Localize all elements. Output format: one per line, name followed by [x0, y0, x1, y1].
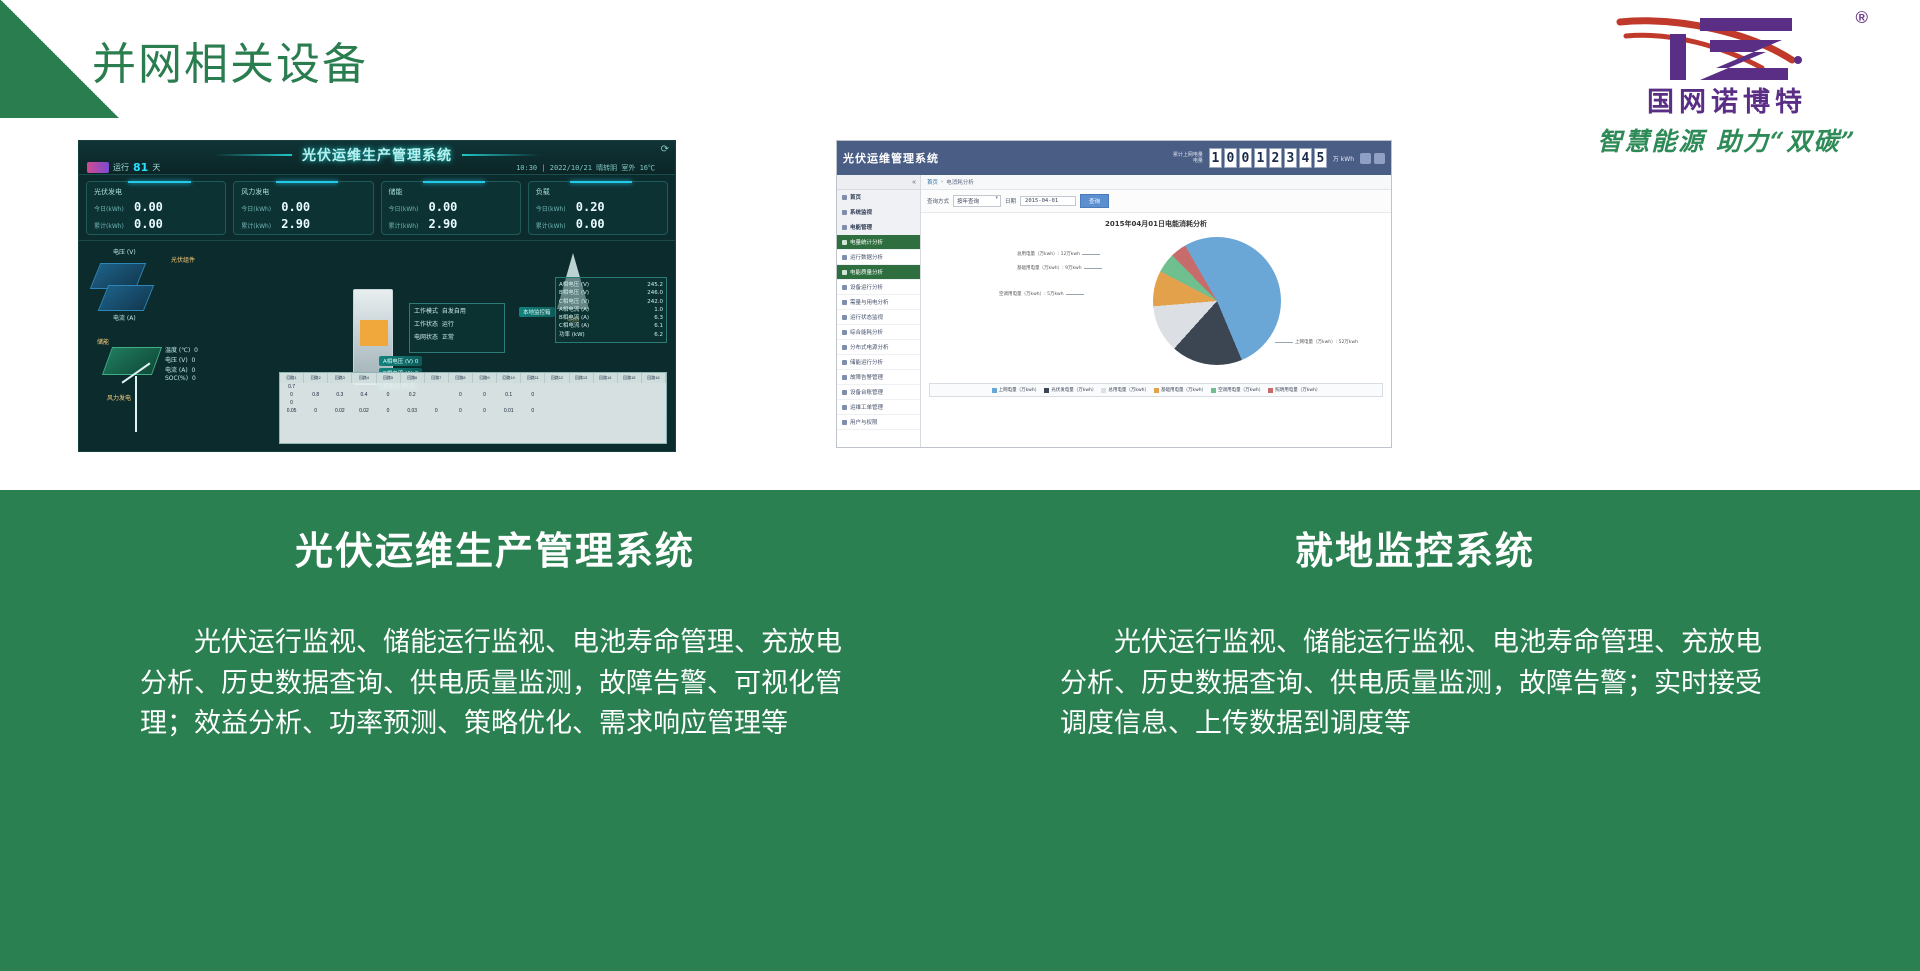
- table-cell: [497, 383, 521, 391]
- pie-annotation: 总用电量（万kwh）: 12万kwh: [1017, 251, 1080, 257]
- registered-trademark-icon: ®: [1855, 8, 1868, 28]
- table-header-cell: 回路12: [545, 373, 569, 383]
- breadcrumb: 首页 › 电消耗分析: [921, 175, 1391, 190]
- table-cell: [497, 399, 521, 407]
- chart-panel: 2015年04月01日电能消耗分析 总用电量（万kwh）: 12万kwh 基础用…: [921, 213, 1391, 425]
- sidebar-item-alarm[interactable]: 故障告警管理: [837, 370, 920, 385]
- table-cell: 0: [280, 391, 304, 399]
- stat-key: 今日(kWh): [241, 204, 275, 213]
- sidebar-item-energy-mgmt[interactable]: 电能管理: [837, 220, 920, 235]
- stat-value: 0.00: [134, 200, 163, 214]
- sidebar-item-users[interactable]: 用户与权限: [837, 415, 920, 430]
- table-cell: [642, 407, 666, 415]
- sidebar-item-operation-data[interactable]: 运行数据分析: [837, 250, 920, 265]
- sidebar-item-storage[interactable]: 储能运行分析: [837, 355, 920, 370]
- table-cell: 0.03: [401, 407, 425, 415]
- table-cell: [473, 383, 497, 391]
- table-cell: 0: [449, 391, 473, 399]
- stat-key: 累计(kWh): [241, 221, 275, 230]
- sidebar-item-label: 运维工单管理: [850, 403, 883, 411]
- logo-mark-icon: ®: [1552, 6, 1902, 84]
- description-band: 光伏运维生产管理系统 光伏运行监视、储能运行监视、电池寿命管理、充放电分析、历史…: [0, 490, 1920, 971]
- table-cell: [304, 383, 328, 391]
- circuit-measurements-table: 回路1 回路2 回路3 回路4 回路5 回路6 回路7 回路8 回路9 回路10…: [279, 372, 667, 444]
- table-cell: [570, 407, 594, 415]
- table-cell: 0: [425, 407, 449, 415]
- table-cell: [328, 383, 352, 391]
- battery-module-icon: [102, 347, 162, 375]
- table-cell: [594, 391, 618, 399]
- sidebar-item-label: 储能运行分析: [850, 358, 883, 366]
- sidebar-item-label: 电能质量分析: [850, 268, 883, 276]
- table-header-row: 回路1 回路2 回路3 回路4 回路5 回路6 回路7 回路8 回路9 回路10…: [280, 373, 666, 383]
- stat-value: 0.00: [576, 217, 605, 231]
- table-cell: [594, 399, 618, 407]
- stat-card[interactable]: 负载 今日(kWh)0.20 累计(kWh)0.00: [528, 181, 668, 235]
- table-cell: 0: [377, 391, 401, 399]
- legend-entry[interactable]: 总用电量（万kwh）: [1101, 387, 1149, 393]
- sidebar-item-label: 故障告警管理: [850, 373, 883, 381]
- sidebar-item-status-monitor[interactable]: 运行状态监视: [837, 310, 920, 325]
- measurement-row: B相电压 (V)246.0: [559, 289, 663, 297]
- pv-group-label: 光伏组件: [171, 255, 195, 264]
- meter-labels: 累计上网电量 电量: [1173, 152, 1203, 165]
- table-cell: [545, 383, 569, 391]
- table-cell: [328, 399, 352, 407]
- table-cell: [425, 383, 449, 391]
- stat-card-title: 风力发电: [241, 187, 365, 197]
- stat-card-row: 光伏发电 今日(kWh)0.00 累计(kWh)0.00 风力发电 今日(kWh…: [79, 175, 675, 235]
- legend-entry[interactable]: 基础用电量（万kwh）: [1154, 387, 1206, 393]
- search-button[interactable]: 查询: [1080, 194, 1109, 208]
- sidebar-item-label: 需量与用电分析: [850, 298, 889, 306]
- table-cell: [352, 383, 376, 391]
- screenshot-pv-ops-dashboard: 光伏运维生产管理系统 运行 81 天 10:30 | 2022/10/21 晴转…: [78, 140, 676, 452]
- date-label: 日期: [1005, 197, 1016, 205]
- table-row: 0.7: [280, 383, 666, 391]
- table-cell: [545, 399, 569, 407]
- table-cell: [642, 391, 666, 399]
- runtime-indicator: 运行 81 天: [87, 161, 160, 174]
- monitor-icon: [842, 210, 847, 215]
- battery-row: 电流 (A) 0: [165, 365, 195, 374]
- stat-key: 今日(kWh): [94, 204, 128, 213]
- alarm-icon: [842, 375, 847, 380]
- energy-icon: [842, 225, 847, 230]
- pie-slices[interactable]: [1153, 237, 1281, 365]
- table-cell: [449, 383, 473, 391]
- runtime-days: 81: [133, 161, 148, 174]
- description-columns: 光伏运维生产管理系统 光伏运行监视、储能运行监视、电池寿命管理、充放电分析、历史…: [0, 490, 1920, 971]
- measurement-row: 功率 (kW)6.2: [559, 331, 663, 339]
- stat-card-title: 储能: [389, 187, 513, 197]
- table-header-cell: 回路3: [328, 373, 352, 383]
- measurement-row: C相电压 (V)242.0: [559, 298, 663, 306]
- sidebar-item-label: 运行数据分析: [850, 253, 883, 261]
- meter-digit-display: 1 0 0 1 2 3 4 5: [1209, 148, 1327, 168]
- table-cell: [642, 399, 666, 407]
- pie-annotation: 空调用电量（万kwh）: 5万kwh: [999, 291, 1064, 297]
- table-cell: [473, 399, 497, 407]
- sidebar-item-label: 设备运行分析: [850, 283, 883, 291]
- dashboard-header: 光伏运维生产管理系统 运行 81 天 10:30 | 2022/10/21 晴转…: [79, 141, 675, 175]
- dg-icon: [842, 345, 847, 350]
- table-cell: [618, 399, 642, 407]
- table-cell: 0.2: [401, 391, 425, 399]
- table-cell: [377, 383, 401, 391]
- meter-digit: 0: [1224, 148, 1237, 168]
- table-cell: 0: [521, 407, 545, 415]
- table-cell: 0.8: [304, 391, 328, 399]
- app-topbar: 光伏运维管理系统 累计上网电量 电量 1 0 0 1 2 3 4 5 万 kWh: [837, 141, 1391, 175]
- table-header-cell: 回路11: [521, 373, 545, 383]
- chart-legend: 上网电量（万kwh） 光伏发电量（万kwh） 总用电量（万kwh） 基础用电量（…: [929, 383, 1383, 397]
- sidebar-item-label: 电能管理: [850, 223, 872, 231]
- stat-card[interactable]: 储能 今日(kWh)0.00 累计(kWh)2.90: [381, 181, 521, 235]
- column-heading: 光伏运维生产管理系统: [140, 520, 850, 575]
- legend-entry[interactable]: 照明用电量（万kwh）: [1268, 387, 1320, 393]
- table-cell: 0: [521, 391, 545, 399]
- table-cell: [377, 399, 401, 407]
- runtime-badge-icon: [87, 162, 109, 173]
- wind-turbine-icon: [135, 376, 137, 432]
- sidebar-item-label: 运行状态监视: [850, 313, 883, 321]
- breadcrumb-separator: ›: [941, 179, 943, 185]
- sidebar-item-demand-analysis[interactable]: 需量与用电分析: [837, 295, 920, 310]
- battery-row: SOC(%) 0: [165, 375, 196, 382]
- stat-value: 0.20: [576, 200, 605, 214]
- table-cell: 0.3: [328, 391, 352, 399]
- sidebar-item-label: 综合能耗分析: [850, 328, 883, 336]
- description-column-right: 就地监控系统 光伏运行监视、储能运行监视、电池寿命管理、充放电分析、历史数据查询…: [940, 520, 1860, 971]
- chart-title: 2015年04月01日电能消耗分析: [921, 219, 1391, 229]
- table-cell: 0.05: [280, 407, 304, 415]
- dashboard-clock: 10:30 | 2022/10/21 晴转阴 室外 16℃: [516, 163, 655, 173]
- table-header-cell: 回路13: [570, 373, 594, 383]
- table-cell: [545, 391, 569, 399]
- sidebar-item-ledger[interactable]: 设备台账管理: [837, 385, 920, 400]
- measurement-row: A相电压 (V)245.2: [559, 281, 663, 289]
- pie-annotation: 基础用电量（万kwh）: 9万kwh: [1017, 265, 1082, 271]
- side-tag: A相电压 (V) 0: [379, 356, 422, 366]
- legend-entry[interactable]: 光伏发电量（万kwh）: [1044, 387, 1096, 393]
- stat-value: 0.00: [281, 200, 310, 214]
- meter-label-2: 电量: [1173, 158, 1203, 165]
- stat-key: 累计(kWh): [389, 221, 423, 230]
- message-icon[interactable]: [1360, 153, 1371, 164]
- sidebar-item-label: 设备台账管理: [850, 388, 883, 396]
- table-cell: 0: [280, 399, 304, 407]
- main-content: 首页 › 电消耗分析 查询方式 按年查询 日期 2015-04-01 查询 20…: [921, 175, 1391, 448]
- table-cell: [594, 407, 618, 415]
- table-cell: [618, 407, 642, 415]
- stat-key: 今日(kWh): [389, 204, 423, 213]
- table-header-cell: 回路7: [425, 373, 449, 383]
- table-header-cell: 回路2: [304, 373, 328, 383]
- stat-value: 0.00: [134, 217, 163, 231]
- sidebar-item-label: 系统监视: [850, 208, 872, 216]
- legend-entry[interactable]: 上网电量（万kwh）: [992, 387, 1040, 393]
- chart-icon: [842, 240, 847, 245]
- sidebar-collapse-button[interactable]: «: [837, 175, 920, 190]
- table-row: 0 0.8 0.3 0.4 0 0.2 0 0 0.1 0: [280, 391, 666, 399]
- stat-value: 2.90: [281, 217, 310, 231]
- date-input[interactable]: 2015-04-01: [1020, 196, 1076, 206]
- table-header-cell: 回路9: [473, 373, 497, 383]
- table-cell: [570, 399, 594, 407]
- query-mode-select[interactable]: 按年查询: [953, 195, 1001, 207]
- table-cell: 0: [473, 391, 497, 399]
- meter-digit: 5: [1314, 148, 1327, 168]
- breadcrumb-current: 电消耗分析: [946, 178, 974, 186]
- description-column-left: 光伏运维生产管理系统 光伏运行监视、储能运行监视、电池寿命管理、充放电分析、历史…: [60, 520, 940, 971]
- stat-card[interactable]: 光伏发电 今日(kWh)0.00 累计(kWh)0.00: [86, 181, 226, 235]
- stat-value: 0.00: [429, 200, 458, 214]
- meter-digit: 0: [1239, 148, 1252, 168]
- table-cell: 0: [473, 407, 497, 415]
- table-cell: [401, 399, 425, 407]
- table-cell: [545, 407, 569, 415]
- app-body: « 首页 系统监视 电能管理 电量统计分析 运行数据分析 电能质量分析 设备运行…: [837, 175, 1391, 448]
- screenshots-row: 光伏运维生产管理系统 运行 81 天 10:30 | 2022/10/21 晴转…: [0, 132, 1920, 462]
- sidebar-item-distributed-gen[interactable]: 分布式电源分析: [837, 340, 920, 355]
- meter-unit: 万 kWh: [1333, 154, 1354, 163]
- logout-icon[interactable]: [1374, 153, 1385, 164]
- monitor-box-tag: 本地监控箱: [519, 307, 555, 317]
- table-cell: [425, 391, 449, 399]
- table-cell: 0.4: [352, 391, 376, 399]
- sidebar-item-consumption[interactable]: 综合能耗分析: [837, 325, 920, 340]
- table-cell: [401, 383, 425, 391]
- table-cell: [594, 383, 618, 391]
- stat-key: 累计(kWh): [536, 221, 570, 230]
- device-icon: [842, 285, 847, 290]
- table-cell: 0.01: [497, 407, 521, 415]
- battery-group-label: 储能: [97, 337, 109, 346]
- battery-row: 电压 (V) 0: [165, 355, 195, 364]
- table-header-cell: 回路14: [594, 373, 618, 383]
- table-header-cell: 回路16: [642, 373, 666, 383]
- table-row: 0: [280, 399, 666, 407]
- meter-digit: 1: [1254, 148, 1267, 168]
- ledger-icon: [842, 390, 847, 395]
- table-cell: [570, 391, 594, 399]
- consume-icon: [842, 330, 847, 335]
- filter-toolbar: 查询方式 按年查询 日期 2015-04-01 查询: [921, 190, 1391, 213]
- table-cell: 0.1: [497, 391, 521, 399]
- sidebar-item-energy-stats[interactable]: 电量统计分析: [837, 235, 920, 250]
- breadcrumb-home[interactable]: 首页: [927, 178, 938, 186]
- quality-icon: [842, 270, 847, 275]
- table-header-cell: 回路5: [377, 373, 401, 383]
- home-icon: [842, 195, 847, 200]
- measurement-row: A相电流 (A)1.0: [559, 306, 663, 314]
- status-icon: [842, 315, 847, 320]
- demand-icon: [842, 300, 847, 305]
- mode-row: 电网状态 正常: [410, 330, 504, 343]
- stat-key: 累计(kWh): [94, 221, 128, 230]
- sidebar-item-home[interactable]: 首页: [837, 190, 920, 205]
- page-title: 并网相关设备: [92, 28, 368, 92]
- sidebar-item-system-monitor[interactable]: 系统监视: [837, 205, 920, 220]
- table-cell: [521, 399, 545, 407]
- pv-panel-icon: [98, 285, 155, 311]
- stat-key: 今日(kWh): [536, 204, 570, 213]
- sidebar-item-label: 用户与权限: [850, 418, 878, 426]
- order-icon: [842, 405, 847, 410]
- table-cell: [352, 399, 376, 407]
- pie-chart: 总用电量（万kwh）: 12万kwh 基础用电量（万kwh）: 9万kwh 空调…: [921, 229, 1391, 379]
- sidebar-item-label: 分布式电源分析: [850, 343, 889, 351]
- user-icon: [842, 420, 847, 425]
- refresh-icon[interactable]: ⟳: [661, 144, 669, 155]
- mode-status-box: 工作模式 自发自用 工作状态 运行 电网状态 正常: [409, 303, 505, 353]
- stat-value: 2.90: [429, 217, 458, 231]
- query-mode-label: 查询方式: [927, 197, 949, 205]
- measurement-row: B相电流 (A)6.3: [559, 314, 663, 322]
- stat-card[interactable]: 风力发电 今日(kWh)0.00 累计(kWh)2.90: [233, 181, 373, 235]
- mode-row: 工作模式 自发自用: [410, 304, 504, 317]
- wind-group-label: 风力发电: [107, 393, 131, 402]
- meter-digit: 1: [1209, 148, 1222, 168]
- column-body: 光伏运行监视、储能运行监视、电池寿命管理、充放电分析、历史数据查询、供电质量监测…: [1060, 623, 1770, 745]
- table-row: 0.05 0 0.02 0.02 0 0.03 0 0 0 0.01 0: [280, 407, 666, 415]
- table-cell: [425, 399, 449, 407]
- pv-current-row: 电流 (A): [113, 313, 136, 322]
- meter-digit: 4: [1299, 148, 1312, 168]
- runtime-suffix: 天: [152, 162, 160, 173]
- logo-company-name: 国网诺博特: [1552, 80, 1902, 119]
- dashboard-title: 光伏运维生产管理系统: [302, 145, 452, 165]
- table-cell: [521, 383, 545, 391]
- app-brand: 光伏运维管理系统: [843, 150, 939, 166]
- table-cell: 0.7: [280, 383, 304, 391]
- table-cell: [449, 399, 473, 407]
- sidebar-item-power-quality[interactable]: 电能质量分析: [837, 265, 920, 280]
- table-cell: [570, 383, 594, 391]
- screenshot-local-monitoring-system: 光伏运维管理系统 累计上网电量 电量 1 0 0 1 2 3 4 5 万 kWh: [836, 140, 1392, 448]
- system-single-line-diagram: 光伏组件 电压 (V) 电流 (A) 储能 温度 (℃) 0 电压 (V) 0 …: [79, 240, 675, 448]
- meter-digit: 2: [1269, 148, 1282, 168]
- pv-voltage-row: 电压 (V): [113, 247, 136, 256]
- table-cell: 0: [304, 407, 328, 415]
- sidebar-item-work-order[interactable]: 运维工单管理: [837, 400, 920, 415]
- column-heading: 就地监控系统: [1060, 520, 1770, 575]
- pie-annotation: 上网电量（万kwh）: 52万kwh: [1295, 339, 1358, 345]
- topbar-right: 累计上网电量 电量 1 0 0 1 2 3 4 5 万 kWh: [1173, 148, 1385, 168]
- table-cell: [304, 399, 328, 407]
- table-cell: 0: [377, 407, 401, 415]
- measurement-row: C相电流 (A)6.1: [559, 322, 663, 330]
- table-cell: 0.02: [352, 407, 376, 415]
- mode-row: 工作状态 运行: [410, 317, 504, 330]
- meter-digit: 3: [1284, 148, 1297, 168]
- stat-card-title: 负载: [536, 187, 660, 197]
- runtime-prefix: 运行: [113, 162, 129, 173]
- table-cell: 0.02: [328, 407, 352, 415]
- table-header-cell: 回路10: [497, 373, 521, 383]
- sidebar-item-label: 首页: [850, 193, 861, 201]
- grid-measurements-table: A相电压 (V)245.2 B相电压 (V)246.0 C相电压 (V)242.…: [555, 277, 667, 343]
- table-cell: 0: [449, 407, 473, 415]
- table-cell: [642, 383, 666, 391]
- table-header-cell: 回路6: [401, 373, 425, 383]
- table-header-cell: 回路15: [618, 373, 642, 383]
- table-header-cell: 回路8: [449, 373, 473, 383]
- data-icon: [842, 255, 847, 260]
- sidebar-item-device-analysis[interactable]: 设备运行分析: [837, 280, 920, 295]
- table-cell: [618, 383, 642, 391]
- column-body: 光伏运行监视、储能运行监视、电池寿命管理、充放电分析、历史数据查询、供电质量监测…: [140, 623, 850, 745]
- storage-icon: [842, 360, 847, 365]
- stat-card-title: 光伏发电: [94, 187, 218, 197]
- sidebar-nav: « 首页 系统监视 电能管理 电量统计分析 运行数据分析 电能质量分析 设备运行…: [837, 175, 921, 448]
- battery-row: 温度 (℃) 0: [165, 345, 198, 354]
- table-cell: [618, 391, 642, 399]
- table-header-cell: 回路4: [352, 373, 376, 383]
- legend-entry[interactable]: 空调用电量（万kwh）: [1211, 387, 1263, 393]
- topbar-icons: [1360, 153, 1385, 164]
- sidebar-item-label: 电量统计分析: [850, 238, 883, 246]
- table-header-cell: 回路1: [280, 373, 304, 383]
